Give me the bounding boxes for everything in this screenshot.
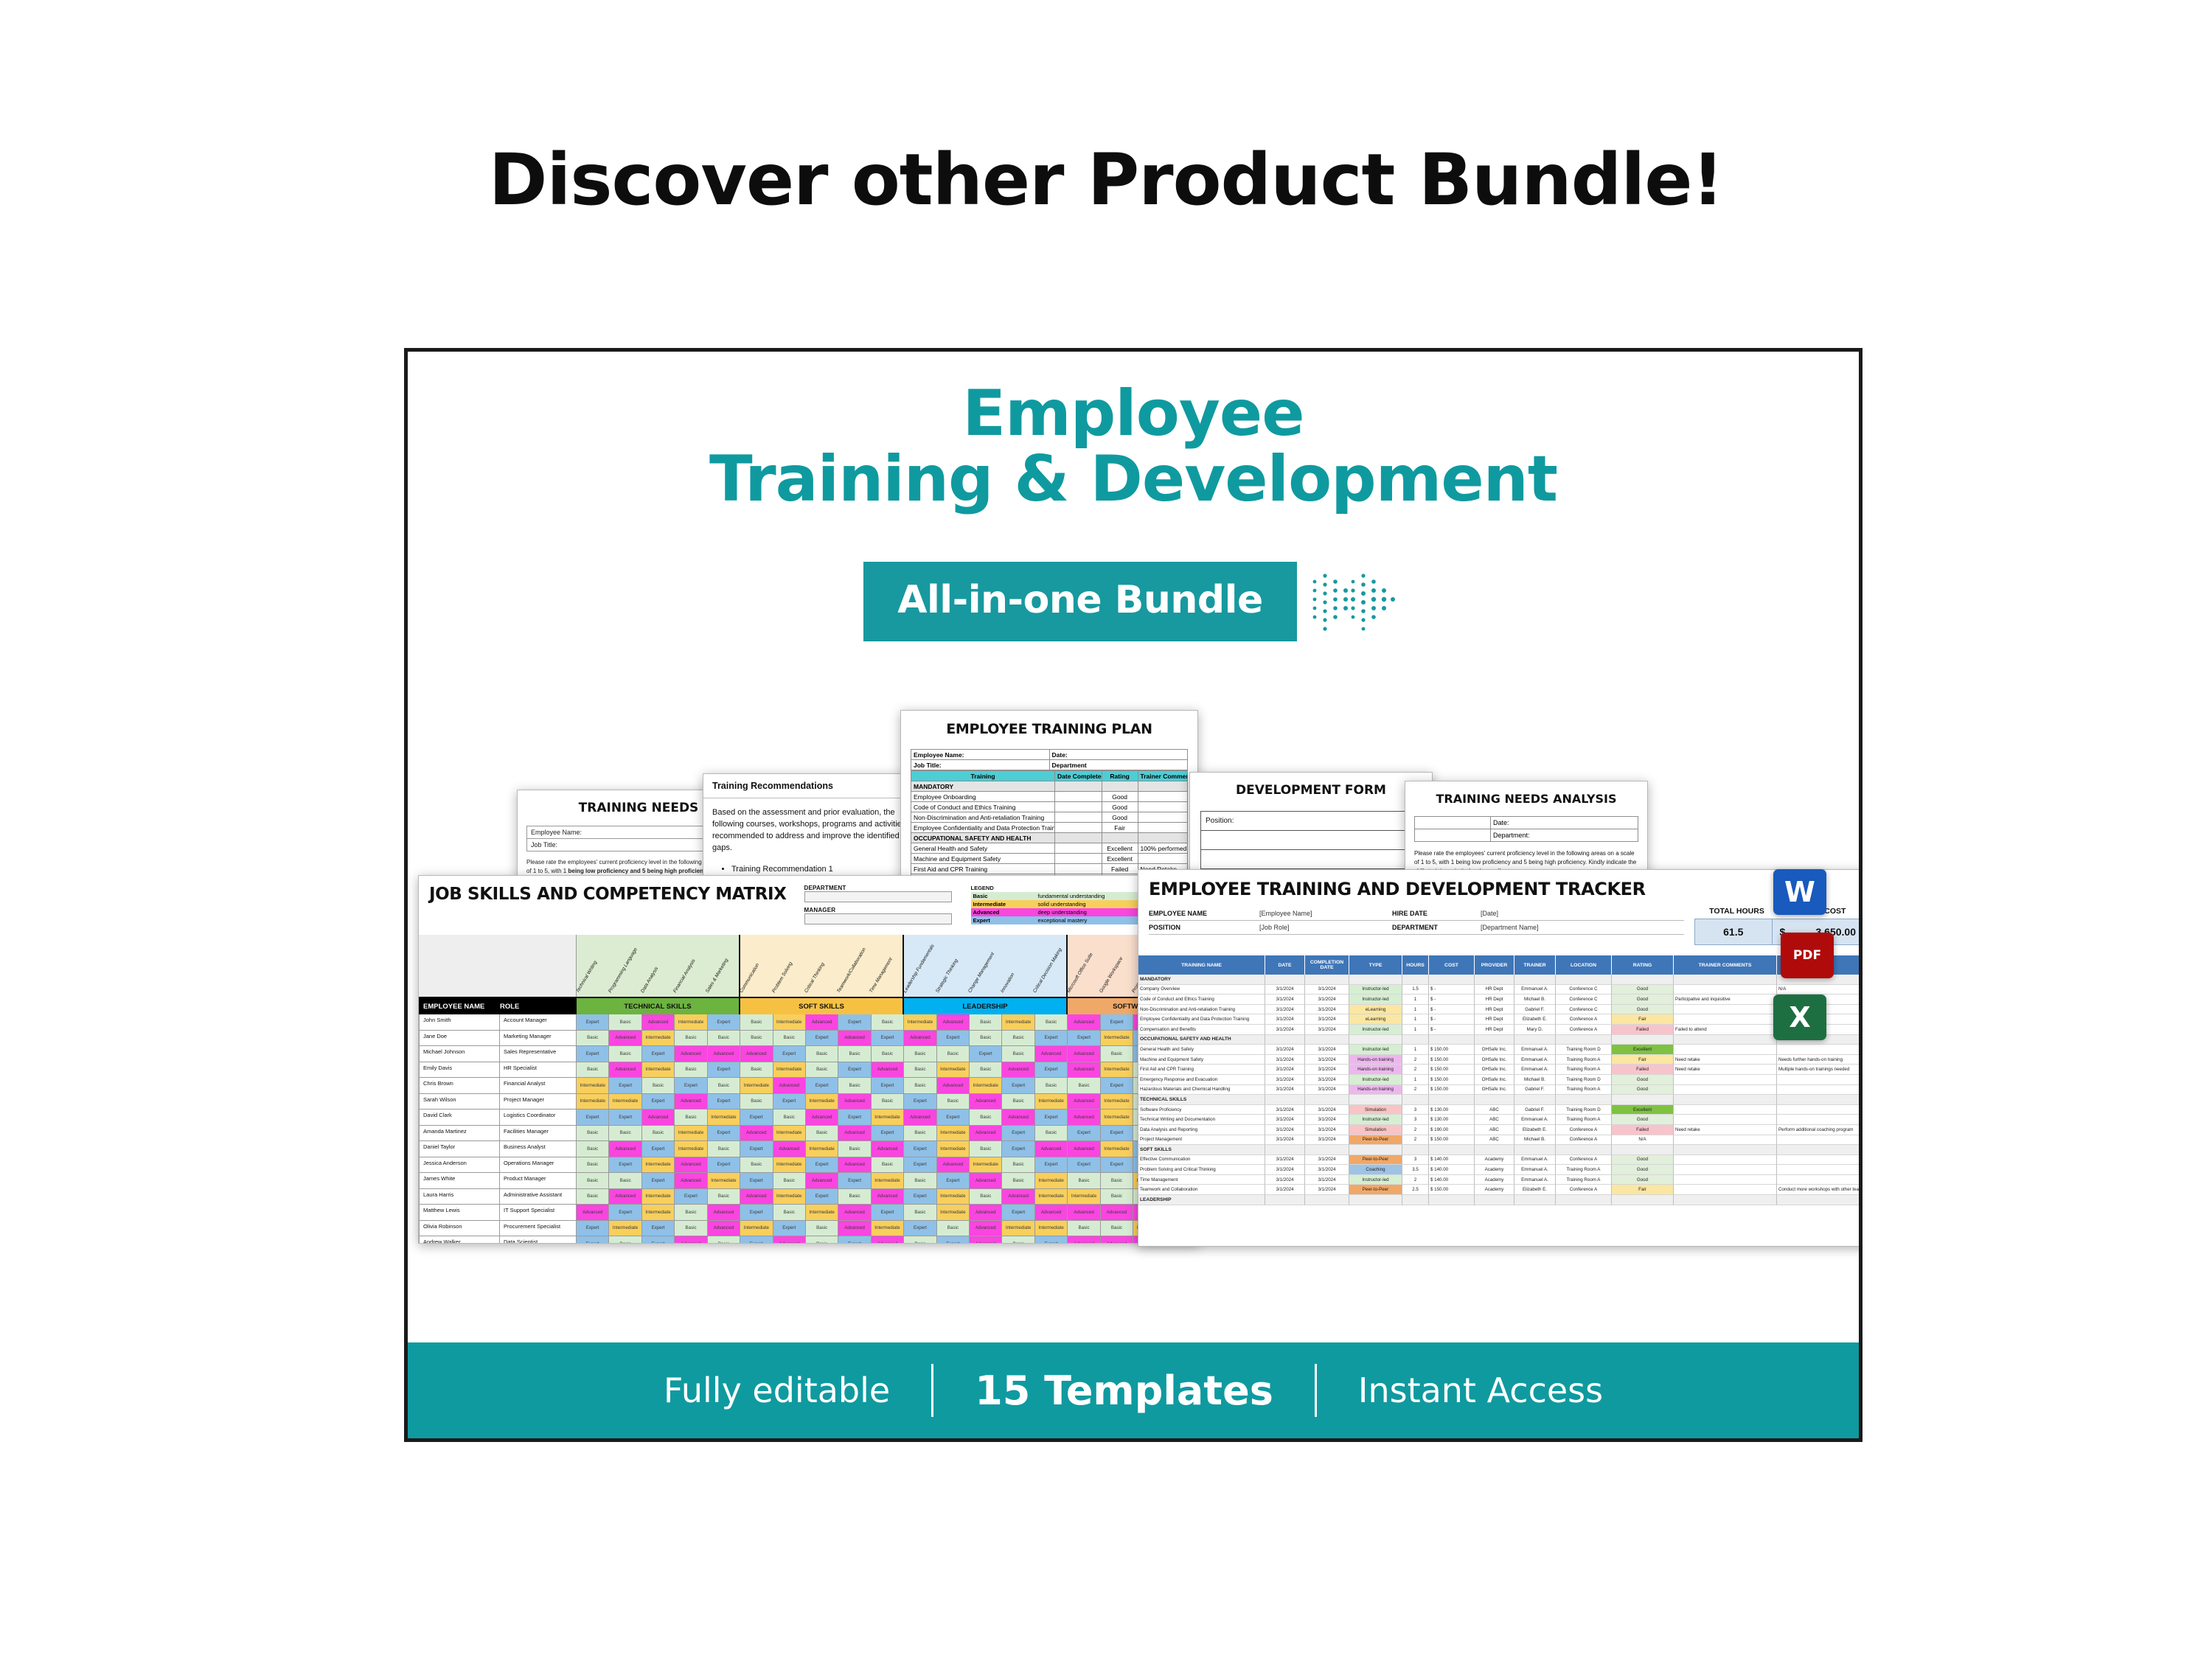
- excel-file-icon[interactable]: X: [1773, 995, 1826, 1040]
- skill-level-cell[interactable]: Intermediate: [1101, 1141, 1133, 1157]
- skill-level-cell[interactable]: Expert: [675, 1078, 707, 1094]
- skill-level-cell[interactable]: Intermediate: [872, 1173, 904, 1189]
- skill-level-cell[interactable]: Advanced: [773, 1078, 806, 1094]
- skill-level-cell[interactable]: Expert: [904, 1221, 936, 1237]
- skill-level-cell[interactable]: Basic: [970, 1110, 1002, 1126]
- skill-level-cell[interactable]: Expert: [609, 1078, 641, 1094]
- skill-level-cell[interactable]: Intermediate: [937, 1062, 970, 1079]
- skill-level-cell[interactable]: Expert: [740, 1141, 773, 1157]
- cost: $ 130.00: [1429, 1105, 1475, 1115]
- skill-level-cell[interactable]: Advanced: [675, 1173, 707, 1189]
- skill-level-cell[interactable]: Expert: [577, 1221, 609, 1237]
- skill-level-cell[interactable]: Advanced: [675, 1236, 707, 1244]
- skill-level-cell[interactable]: Expert: [904, 1189, 936, 1205]
- skill-level-cell[interactable]: Expert: [806, 1157, 838, 1174]
- skill-level-cell[interactable]: Advanced: [838, 1126, 871, 1142]
- table-row: Hazardous Materials and Chemical Handlin…: [1138, 1085, 1863, 1096]
- skill-level-cell[interactable]: Basic: [708, 1141, 740, 1157]
- skill-level-cell[interactable]: Expert: [806, 1031, 838, 1047]
- skill-level-cell[interactable]: Advanced: [609, 1189, 641, 1205]
- location: Training Room D: [1556, 1075, 1612, 1085]
- skill-level-cell[interactable]: Expert: [1101, 1014, 1133, 1031]
- skill-level-cell[interactable]: Basic: [708, 1078, 740, 1094]
- skill-level-cell[interactable]: Basic: [904, 1236, 936, 1244]
- skill-level-cell[interactable]: Expert: [872, 1205, 904, 1221]
- skill-level-cell[interactable]: Basic: [838, 1141, 871, 1157]
- skill-level-cell[interactable]: Intermediate: [1035, 1189, 1068, 1205]
- skill-level-cell[interactable]: Advanced: [937, 1157, 970, 1174]
- date-completed[interactable]: [1055, 812, 1102, 823]
- skill-level-cell[interactable]: Basic: [773, 1110, 806, 1126]
- position-value[interactable]: [Job Role]: [1259, 924, 1392, 931]
- skill-level-cell[interactable]: Intermediate: [1035, 1094, 1068, 1110]
- skill-level-cell[interactable]: Advanced: [838, 1157, 871, 1174]
- skill-level-cell[interactable]: Expert: [1101, 1157, 1133, 1174]
- skill-label: Innovation: [1000, 972, 1015, 994]
- skill-level-cell[interactable]: Expert: [1068, 1031, 1100, 1047]
- skill-level-cell[interactable]: Basic: [970, 1141, 1002, 1157]
- skill-level-cell[interactable]: Advanced: [1002, 1189, 1034, 1205]
- skill-level-cell[interactable]: Intermediate: [675, 1141, 707, 1157]
- skill-level-cell[interactable]: Advanced: [1068, 1046, 1100, 1062]
- skill-level-cell[interactable]: Expert: [642, 1221, 675, 1237]
- date-completed[interactable]: [1055, 823, 1102, 833]
- skill-level-cell[interactable]: Basic: [708, 1236, 740, 1244]
- skill-level-cell[interactable]: Intermediate: [773, 1014, 806, 1031]
- skill-level-cell[interactable]: Expert: [740, 1173, 773, 1189]
- skill-level-cell[interactable]: Basic: [872, 1157, 904, 1174]
- skill-level-cell[interactable]: Expert: [970, 1046, 1002, 1062]
- skill-level-cell[interactable]: Expert: [1068, 1126, 1100, 1142]
- skill-level-cell[interactable]: Expert: [1002, 1141, 1034, 1157]
- skill-level-cell[interactable]: Expert: [937, 1031, 970, 1047]
- date-completed[interactable]: [1055, 864, 1102, 874]
- skill-level-cell[interactable]: Basic: [970, 1031, 1002, 1047]
- skill-level-cell[interactable]: Basic: [1101, 1173, 1133, 1189]
- department-input[interactable]: [804, 891, 952, 902]
- skill-level-cell[interactable]: Expert: [577, 1046, 609, 1062]
- skill-level-cell[interactable]: Expert: [838, 1062, 871, 1079]
- skill-level-cell[interactable]: Expert: [609, 1205, 641, 1221]
- department-value[interactable]: [Department Name]: [1481, 924, 1684, 931]
- skill-level-cell[interactable]: Advanced: [708, 1205, 740, 1221]
- skill-level-cell[interactable]: Advanced: [806, 1110, 838, 1126]
- skill-level-cell[interactable]: Basic: [675, 1221, 707, 1237]
- table-row: Laura HarrisAdministrative AssistantBasi…: [419, 1189, 1199, 1205]
- skill-level-cell[interactable]: Basic: [642, 1126, 675, 1142]
- skill-level-cell[interactable]: Advanced: [872, 1189, 904, 1205]
- skill-level-cell[interactable]: Intermediate: [642, 1157, 675, 1174]
- trainer: Emmanuel A.: [1514, 1055, 1556, 1065]
- skill-level-cell[interactable]: Basic: [1002, 1236, 1034, 1244]
- skill-level-cell[interactable]: Intermediate: [773, 1062, 806, 1079]
- page-headline: Discover other Product Bundle!: [0, 139, 2212, 221]
- skill-level-cell[interactable]: Advanced: [577, 1205, 609, 1221]
- skill-level-cell[interactable]: Intermediate: [1035, 1221, 1068, 1237]
- skill-level-cell[interactable]: Advanced: [609, 1031, 641, 1047]
- skill-level-cell[interactable]: Basic: [609, 1126, 641, 1142]
- skill-level-cell[interactable]: Basic: [872, 1094, 904, 1110]
- skill-level-cell[interactable]: Advanced: [675, 1157, 707, 1174]
- skill-level-cell[interactable]: Expert: [838, 1110, 871, 1126]
- skill-level-cell[interactable]: Expert: [1035, 1062, 1068, 1079]
- skill-level-cell[interactable]: Basic: [904, 1126, 936, 1142]
- skill-level-cell[interactable]: Expert: [740, 1205, 773, 1221]
- role-header: ROLE: [500, 1003, 577, 1011]
- skill-level-cell[interactable]: Basic: [838, 1189, 871, 1205]
- skill-level-cell[interactable]: Basic: [1002, 1094, 1034, 1110]
- blank-field-1[interactable]: [1201, 831, 1421, 850]
- skill-level-cell[interactable]: Advanced: [1068, 1094, 1100, 1110]
- table-row: TrainingDate CompletedRatingTrainer Comm…: [911, 771, 1188, 781]
- skill-level-cell[interactable]: Advanced: [1035, 1141, 1068, 1157]
- skill-level-cell[interactable]: Intermediate: [609, 1094, 641, 1110]
- skill-level-cell[interactable]: Basic: [937, 1221, 970, 1237]
- skill-level-cell[interactable]: Intermediate: [937, 1126, 970, 1142]
- skill-level-cell[interactable]: Expert: [577, 1014, 609, 1031]
- skill-level-cell[interactable]: Expert: [872, 1031, 904, 1047]
- skill-level-cell[interactable]: Basic: [577, 1031, 609, 1047]
- skill-level-cell[interactable]: Basic: [642, 1078, 675, 1094]
- skill-level-cell[interactable]: Intermediate: [708, 1110, 740, 1126]
- skill-level-cell[interactable]: Intermediate: [1068, 1189, 1100, 1205]
- skill-level-cell[interactable]: Basic: [1068, 1221, 1100, 1237]
- document-training-tracker[interactable]: EMPLOYEE TRAINING AND DEVELOPMENT TRACKE…: [1138, 869, 1863, 1247]
- skill-level-cell[interactable]: Expert: [1002, 1126, 1034, 1142]
- word-file-icon[interactable]: W: [1773, 869, 1826, 915]
- skill-level-cell[interactable]: Intermediate: [642, 1205, 675, 1221]
- skill-level-cell[interactable]: Expert: [838, 1173, 871, 1189]
- skill-level-cell[interactable]: Intermediate: [609, 1221, 641, 1237]
- skill-level-cell[interactable]: Basic: [838, 1046, 871, 1062]
- position-field[interactable]: Position:: [1201, 812, 1421, 831]
- skill-level-cell[interactable]: Basic: [577, 1062, 609, 1079]
- skill-level-cell[interactable]: Basic: [609, 1046, 641, 1062]
- skill-level-cell[interactable]: Intermediate: [1035, 1173, 1068, 1189]
- skill-level-cell[interactable]: Expert: [806, 1078, 838, 1094]
- skill-level-cell[interactable]: Basic: [609, 1014, 641, 1031]
- cost: $ -: [1429, 995, 1475, 1005]
- skill-level-cell[interactable]: Expert: [675, 1189, 707, 1205]
- skill-level-cell[interactable]: Basic: [806, 1236, 838, 1244]
- skill-level-cell[interactable]: Basic: [904, 1046, 936, 1062]
- skill-level-cell[interactable]: Basic: [577, 1126, 609, 1142]
- skill-level-cell[interactable]: Advanced: [1101, 1236, 1133, 1244]
- skill-level-cell[interactable]: Basic: [904, 1078, 936, 1094]
- skill-level-cell[interactable]: Basic: [609, 1236, 641, 1244]
- date-completed[interactable]: [1055, 843, 1102, 854]
- skill-level-cell[interactable]: Expert: [708, 1157, 740, 1174]
- skill-level-cell[interactable]: Basic: [806, 1126, 838, 1142]
- training-type: Peer-to-Peer: [1349, 1185, 1402, 1195]
- additional-note: Perform additional coaching program: [1777, 1125, 1863, 1135]
- skill-level-cell[interactable]: Advanced: [1068, 1205, 1100, 1221]
- skill-level-cell[interactable]: Advanced: [773, 1141, 806, 1157]
- skill-level-cell[interactable]: Advanced: [904, 1031, 936, 1047]
- skill-level-cell[interactable]: Basic: [1101, 1221, 1133, 1237]
- skill-level-cell[interactable]: Basic: [609, 1173, 641, 1189]
- skill-level-cell[interactable]: Intermediate: [1101, 1062, 1133, 1079]
- pdf-file-icon[interactable]: PDF: [1781, 933, 1834, 978]
- skill-level-cell[interactable]: Expert: [1101, 1126, 1133, 1142]
- skill-level-cell[interactable]: Advanced: [773, 1236, 806, 1244]
- skill-level-cell[interactable]: Expert: [642, 1141, 675, 1157]
- training-name: Employee Confidentiality and Data Protec…: [911, 823, 1055, 833]
- skill-level-cell[interactable]: Expert: [1035, 1157, 1068, 1174]
- skill-level-cell[interactable]: Advanced: [675, 1046, 707, 1062]
- skill-level-cell[interactable]: Intermediate: [1101, 1031, 1133, 1047]
- employee-name-value[interactable]: [Employee Name]: [1259, 910, 1392, 917]
- skill-level-cell[interactable]: Basic: [708, 1189, 740, 1205]
- legend-level: Intermediate: [971, 900, 1036, 908]
- skill-level-cell[interactable]: Basic: [740, 1031, 773, 1047]
- skill-level-cell[interactable]: Advanced: [970, 1205, 1002, 1221]
- skill-level-cell[interactable]: Expert: [773, 1046, 806, 1062]
- skill-level-cell[interactable]: Advanced: [838, 1221, 871, 1237]
- skill-level-cell[interactable]: Advanced: [1035, 1046, 1068, 1062]
- skill-level-cell[interactable]: Expert: [642, 1236, 675, 1244]
- skill-level-cell[interactable]: Expert: [1035, 1236, 1068, 1244]
- document-job-skills-matrix[interactable]: JOB SKILLS AND COMPETENCY MATRIX DEPARTM…: [418, 875, 1200, 1244]
- skill-level-cell[interactable]: Basic: [740, 1062, 773, 1079]
- skill-level-cell[interactable]: Basic: [937, 1094, 970, 1110]
- location: Training Room A: [1556, 1115, 1612, 1125]
- manager-input[interactable]: [804, 913, 952, 924]
- skill-level-cell[interactable]: Basic: [872, 1014, 904, 1031]
- skill-level-cell[interactable]: Expert: [1035, 1031, 1068, 1047]
- skill-level-cell[interactable]: Expert: [1101, 1078, 1133, 1094]
- skill-level-cell[interactable]: Basic: [1002, 1031, 1034, 1047]
- skill-level-cell[interactable]: Intermediate: [937, 1205, 970, 1221]
- skill-level-cell[interactable]: Basic: [577, 1157, 609, 1174]
- skill-level-cell[interactable]: Expert: [937, 1173, 970, 1189]
- skill-level-cell[interactable]: Intermediate: [904, 1014, 936, 1031]
- skill-level-cell[interactable]: Intermediate: [675, 1014, 707, 1031]
- skill-level-cell[interactable]: Basic: [577, 1189, 609, 1205]
- skill-level-cell[interactable]: Basic: [1068, 1078, 1100, 1094]
- skill-level-cell[interactable]: Expert: [872, 1126, 904, 1142]
- skill-level-cell[interactable]: Intermediate: [675, 1126, 707, 1142]
- table-row: David ClarkLogistics CoordinatorExpertEx…: [419, 1110, 1199, 1126]
- skill-level-cell[interactable]: Basic: [740, 1014, 773, 1031]
- skill-level-cell[interactable]: Expert: [1002, 1205, 1034, 1221]
- skill-level-cell[interactable]: Intermediate: [970, 1157, 1002, 1174]
- skill-level-cell[interactable]: Advanced: [1068, 1062, 1100, 1079]
- skill-level-cell[interactable]: Advanced: [1068, 1014, 1100, 1031]
- skill-level-cell[interactable]: Basic: [872, 1046, 904, 1062]
- skill-level-cell[interactable]: Basic: [806, 1221, 838, 1237]
- skill-level-cell[interactable]: Intermediate: [1101, 1094, 1133, 1110]
- skill-level-cell[interactable]: Intermediate: [642, 1189, 675, 1205]
- skill-level-cell[interactable]: Basic: [675, 1205, 707, 1221]
- skill-level-cell[interactable]: Intermediate: [1002, 1014, 1034, 1031]
- skill-level-cell[interactable]: Intermediate: [773, 1157, 806, 1174]
- skill-level-cell[interactable]: Basic: [708, 1031, 740, 1047]
- skill-level-cell[interactable]: Basic: [904, 1205, 936, 1221]
- pdf-glyph: PDF: [1793, 948, 1821, 963]
- skill-level-cell[interactable]: Advanced: [806, 1014, 838, 1031]
- skill-level-cell[interactable]: Basic: [740, 1094, 773, 1110]
- skill-level-cell[interactable]: Basic: [1002, 1157, 1034, 1174]
- skill-level-cell[interactable]: Advanced: [708, 1221, 740, 1237]
- skill-level-cell[interactable]: Expert: [937, 1110, 970, 1126]
- skill-level-cell[interactable]: Intermediate: [806, 1141, 838, 1157]
- skill-level-cell[interactable]: Advanced: [937, 1078, 970, 1094]
- skill-level-cell[interactable]: Intermediate: [937, 1189, 970, 1205]
- skill-level-cell[interactable]: Expert: [838, 1236, 871, 1244]
- date-completed[interactable]: [1055, 802, 1102, 812]
- skill-level-cell[interactable]: Basic: [806, 1062, 838, 1079]
- skill-level-cell[interactable]: Basic: [675, 1110, 707, 1126]
- skill-level-cell[interactable]: Basic: [577, 1141, 609, 1157]
- skill-level-cell[interactable]: Expert: [773, 1221, 806, 1237]
- skill-level-cell[interactable]: Advanced: [740, 1189, 773, 1205]
- skill-level-cell[interactable]: Intermediate: [937, 1141, 970, 1157]
- skill-level-cell[interactable]: Advanced: [872, 1062, 904, 1079]
- skill-level-cell[interactable]: Advanced: [740, 1126, 773, 1142]
- skill-level-cell[interactable]: Advanced: [1002, 1062, 1034, 1079]
- hours: 1: [1402, 995, 1429, 1005]
- skill-level-cell[interactable]: Basic: [838, 1078, 871, 1094]
- skill-level-cell[interactable]: Expert: [708, 1014, 740, 1031]
- skill-level-cell[interactable]: Expert: [1002, 1078, 1034, 1094]
- skill-level-cell[interactable]: Basic: [1101, 1189, 1133, 1205]
- skill-level-cell[interactable]: Intermediate: [708, 1173, 740, 1189]
- skill-level-cell[interactable]: Intermediate: [740, 1078, 773, 1094]
- skill-level-cell[interactable]: Expert: [904, 1094, 936, 1110]
- skill-level-cell[interactable]: Basic: [904, 1062, 936, 1079]
- skill-level-cell[interactable]: Expert: [708, 1094, 740, 1110]
- bundle-badge-row: All-in-one Bundle: [408, 561, 1859, 642]
- skill-level-cell[interactable]: Expert: [1068, 1157, 1100, 1174]
- skill-level-cell[interactable]: Advanced: [1101, 1205, 1133, 1221]
- skill-level-cell[interactable]: Expert: [609, 1110, 641, 1126]
- skill-level-cell[interactable]: Advanced: [838, 1031, 871, 1047]
- skill-level-cell[interactable]: Basic: [970, 1189, 1002, 1205]
- skill-level-cell[interactable]: Expert: [806, 1189, 838, 1205]
- skill-level-cell[interactable]: Advanced: [609, 1141, 641, 1157]
- skill-level-cell[interactable]: Basic: [675, 1062, 707, 1079]
- skill-level-cell[interactable]: Advanced: [937, 1014, 970, 1031]
- skill-level-cell[interactable]: Basic: [937, 1046, 970, 1062]
- skill-level-cell[interactable]: Advanced: [970, 1173, 1002, 1189]
- skill-level-cell[interactable]: Advanced: [970, 1221, 1002, 1237]
- skill-level-cell[interactable]: Basic: [773, 1205, 806, 1221]
- skill-level-cell[interactable]: Expert: [1035, 1110, 1068, 1126]
- skill-level-cell[interactable]: Advanced: [1068, 1236, 1100, 1244]
- skill-level-cell[interactable]: Intermediate: [872, 1221, 904, 1237]
- skill-level-cell[interactable]: Intermediate: [642, 1062, 675, 1079]
- skill-level-cell[interactable]: Advanced: [970, 1126, 1002, 1142]
- skill-level-cell[interactable]: Advanced: [904, 1110, 936, 1126]
- skill-level-cell[interactable]: Intermediate: [806, 1094, 838, 1110]
- hours: 1: [1402, 1025, 1429, 1035]
- skill-level-cell[interactable]: Advanced: [970, 1094, 1002, 1110]
- skill-level-cell[interactable]: Expert: [642, 1173, 675, 1189]
- skill-level-cell[interactable]: Basic: [773, 1173, 806, 1189]
- skill-level-cell[interactable]: Advanced: [708, 1046, 740, 1062]
- skill-level-cell[interactable]: Intermediate: [577, 1078, 609, 1094]
- skill-level-cell[interactable]: Expert: [708, 1126, 740, 1142]
- employee-role: HR Specialist: [500, 1062, 577, 1079]
- skill-level-cell[interactable]: Advanced: [642, 1110, 675, 1126]
- hire-date-value[interactable]: [Date]: [1481, 910, 1684, 917]
- skill-level-cell[interactable]: Intermediate: [740, 1221, 773, 1237]
- skill-level-cell[interactable]: Advanced: [838, 1205, 871, 1221]
- skill-level-cell[interactable]: Advanced: [642, 1014, 675, 1031]
- date-completed[interactable]: [1055, 792, 1102, 802]
- skill-level-cell[interactable]: Basic: [675, 1031, 707, 1047]
- skill-level-cell[interactable]: Advanced: [872, 1236, 904, 1244]
- blank-field-2[interactable]: [1201, 850, 1421, 868]
- skill-level-cell[interactable]: Expert: [904, 1141, 936, 1157]
- skill-level-cell[interactable]: Basic: [1068, 1173, 1100, 1189]
- skill-level-cell[interactable]: Expert: [740, 1110, 773, 1126]
- skill-level-cell[interactable]: Intermediate: [872, 1110, 904, 1126]
- date-completed[interactable]: [1055, 854, 1102, 864]
- skill-level-cell[interactable]: Basic: [1002, 1173, 1034, 1189]
- skill-level-cell[interactable]: Intermediate: [1101, 1110, 1133, 1126]
- skill-level-cell[interactable]: Advanced: [1068, 1141, 1100, 1157]
- skill-level-cell[interactable]: Basic: [904, 1173, 936, 1189]
- skill-level-cell[interactable]: Advanced: [1002, 1110, 1034, 1126]
- skill-level-cell[interactable]: Advanced: [872, 1141, 904, 1157]
- skill-level-cell[interactable]: Advanced: [838, 1094, 871, 1110]
- skill-level-cell[interactable]: Basic: [970, 1014, 1002, 1031]
- skill-level-cell[interactable]: Intermediate: [970, 1078, 1002, 1094]
- skill-level-cell[interactable]: Expert: [904, 1157, 936, 1174]
- skill-level-cell[interactable]: Basic: [773, 1031, 806, 1047]
- skill-level-cell[interactable]: Advanced: [1068, 1110, 1100, 1126]
- skill-level-cell[interactable]: Expert: [838, 1014, 871, 1031]
- skill-level-cell[interactable]: Advanced: [806, 1173, 838, 1189]
- skill-level-cell[interactable]: Intermediate: [577, 1094, 609, 1110]
- location: Conference C: [1556, 1005, 1612, 1015]
- skill-level-cell[interactable]: Basic: [970, 1062, 1002, 1079]
- skill-level-cell[interactable]: Expert: [577, 1236, 609, 1244]
- skill-level-cell[interactable]: Basic: [1101, 1046, 1133, 1062]
- skill-level-cell[interactable]: Intermediate: [773, 1189, 806, 1205]
- skill-level-cell[interactable]: Advanced: [970, 1236, 1002, 1244]
- skill-level-cell[interactable]: Intermediate: [1002, 1221, 1034, 1237]
- skill-level-cell[interactable]: Basic: [806, 1046, 838, 1062]
- skill-level-cell[interactable]: Advanced: [1035, 1205, 1068, 1221]
- cost: $ 150.00: [1429, 1065, 1475, 1075]
- skill-level-cell[interactable]: Intermediate: [806, 1205, 838, 1221]
- skill-level-cell[interactable]: Intermediate: [773, 1126, 806, 1142]
- skill-level-cell[interactable]: Expert: [577, 1110, 609, 1126]
- skill-level-cell[interactable]: Basic: [1002, 1046, 1034, 1062]
- skill-level-cell[interactable]: Basic: [1035, 1126, 1068, 1142]
- skill-level-cell[interactable]: Advanced: [740, 1046, 773, 1062]
- skill-level-cell[interactable]: Expert: [937, 1236, 970, 1244]
- skill-level-cell[interactable]: Expert: [708, 1062, 740, 1079]
- trainer-comment: Failed to attend: [1674, 1025, 1777, 1035]
- skill-level-cell[interactable]: Expert: [773, 1094, 806, 1110]
- skill-level-cell[interactable]: Advanced: [609, 1062, 641, 1079]
- skill-level-cell[interactable]: Expert: [642, 1046, 675, 1062]
- skill-level-cell[interactable]: Intermediate: [642, 1031, 675, 1047]
- skill-level-cell[interactable]: Basic: [740, 1157, 773, 1174]
- skill-level-cell[interactable]: Expert: [609, 1157, 641, 1174]
- skill-level-cell[interactable]: Advanced: [675, 1094, 707, 1110]
- skill-level-cell[interactable]: Basic: [577, 1173, 609, 1189]
- skill-level-cell[interactable]: Expert: [642, 1094, 675, 1110]
- skill-level-cell[interactable]: Expert: [872, 1078, 904, 1094]
- skill-level-cell[interactable]: Expert: [740, 1236, 773, 1244]
- skill-level-cell[interactable]: Basic: [1035, 1078, 1068, 1094]
- skill-level-cell[interactable]: Basic: [1035, 1014, 1068, 1031]
